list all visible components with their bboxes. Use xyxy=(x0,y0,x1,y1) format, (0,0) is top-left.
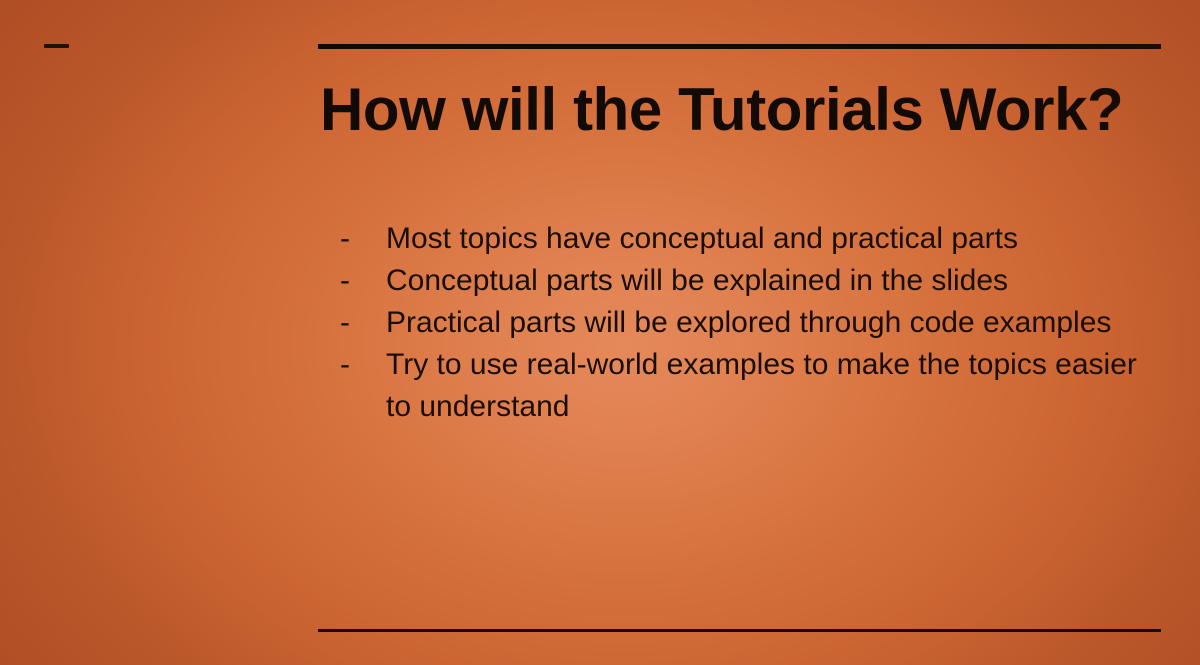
list-item: - Conceptual parts will be explained in … xyxy=(340,260,1150,302)
bullet-text: Most topics have conceptual and practica… xyxy=(386,218,1150,260)
bullet-list: - Most topics have conceptual and practi… xyxy=(340,218,1150,428)
bullet-text: Conceptual parts will be explained in th… xyxy=(386,260,1150,302)
corner-dash-decoration xyxy=(44,44,69,48)
list-item: - Practical parts will be explored throu… xyxy=(340,302,1150,344)
slide-title: How will the Tutorials Work? xyxy=(320,78,1123,141)
bullet-text: Practical parts will be explored through… xyxy=(386,302,1150,344)
top-divider-rule xyxy=(318,44,1161,49)
bullet-marker-icon: - xyxy=(340,302,386,344)
bullet-text: Try to use real-world examples to make t… xyxy=(386,344,1150,428)
list-item: - Try to use real-world examples to make… xyxy=(340,344,1150,428)
list-item: - Most topics have conceptual and practi… xyxy=(340,218,1150,260)
bullet-marker-icon: - xyxy=(340,218,386,260)
presentation-slide: How will the Tutorials Work? - Most topi… xyxy=(0,0,1200,665)
bottom-divider-rule xyxy=(318,629,1161,632)
bullet-marker-icon: - xyxy=(340,260,386,302)
bullet-marker-icon: - xyxy=(340,344,386,386)
